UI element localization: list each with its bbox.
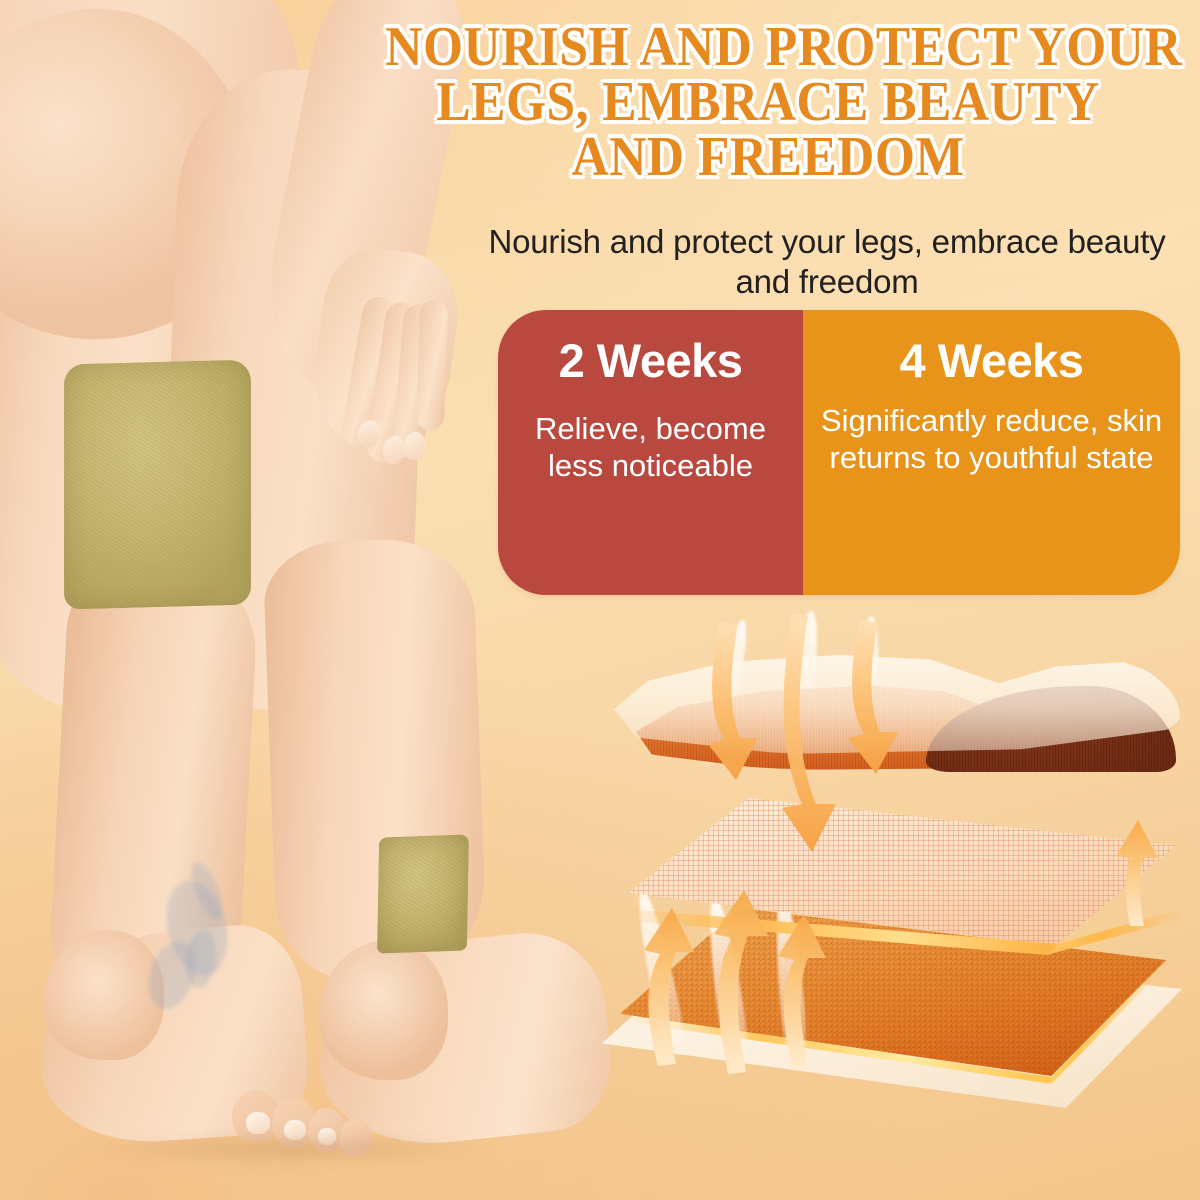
headline-line-3: AND FREEDOM <box>385 130 1150 185</box>
rear-heel-shape <box>44 930 164 1060</box>
flow-arrows <box>596 608 1200 1108</box>
panel-4-weeks: 4 Weeks Significantly reduce, skin retur… <box>803 310 1180 595</box>
headline: NOURISH AND PROTECT YOUR LEGS, EMBRACE B… <box>385 20 1150 185</box>
panel-2-weeks: 2 Weeks Relieve, become less noticeable <box>498 310 803 595</box>
fingernail-shape <box>403 431 427 461</box>
breathability-arrow-group <box>644 820 1158 1074</box>
product-poster: NOURISH AND PROTECT YOUR LEGS, EMBRACE B… <box>0 0 1200 1200</box>
herbal-patch-ankle <box>377 834 469 953</box>
panel-2-weeks-body: Relieve, become less noticeable <box>498 411 803 484</box>
panel-4-weeks-title: 4 Weeks <box>900 336 1084 385</box>
panel-2-weeks-title: 2 Weeks <box>559 336 743 385</box>
headline-line-2: LEGS, EMBRACE BEAUTY <box>385 75 1150 130</box>
herbal-patch-calf <box>64 360 251 610</box>
front-heel-shape <box>320 940 448 1080</box>
headline-line-1: NOURISH AND PROTECT YOUR <box>385 20 1150 75</box>
subtitle: Nourish and protect your legs, embrace b… <box>470 222 1184 303</box>
patch-layers-illustration <box>596 608 1200 1108</box>
timeline-comparison-card: 2 Weeks Relieve, become less noticeable … <box>498 310 1180 595</box>
finger-shape <box>416 300 449 431</box>
panel-4-weeks-body: Significantly reduce, skin returns to yo… <box>803 403 1180 476</box>
ground-shadow <box>10 1128 570 1170</box>
absorption-arrow-group <box>708 614 898 852</box>
